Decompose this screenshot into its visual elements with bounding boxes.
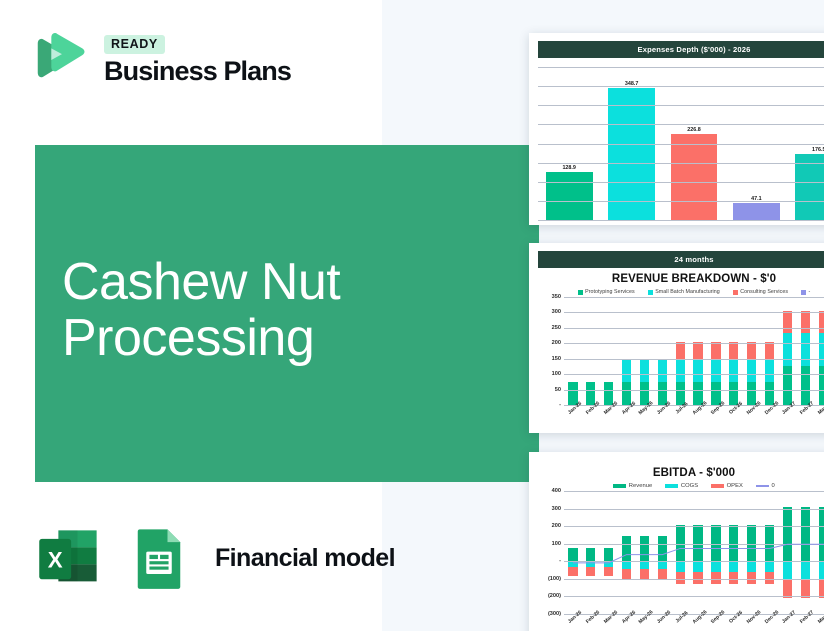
- file-format-row: X Financial model: [35, 524, 395, 592]
- chart-card-revenue[interactable]: 24 months REVENUE BREAKDOWN - $'0 Protot…: [529, 243, 824, 433]
- play-triangles-logo-icon: [30, 28, 92, 90]
- revenue-bar-segment: [801, 333, 810, 365]
- legend-swatch: [665, 484, 678, 488]
- gridline: [538, 67, 824, 68]
- legend-swatch: [613, 484, 626, 488]
- x-tick: Aug-26: [689, 614, 707, 631]
- chart-card-expenses[interactable]: Expenses Depth ($'000) - 2026 128.9348.7…: [529, 33, 824, 225]
- gridline: [564, 374, 824, 375]
- revenue-grid: [564, 297, 824, 405]
- y-tick-label: 150: [552, 356, 561, 362]
- x-tick: Nov-26: [743, 614, 761, 631]
- revenue-bar-segment: [765, 360, 774, 382]
- ebitda-x-axis: Jan-26Feb-26Mar-26Apr-26May-26Jun-26Jul-…: [564, 614, 824, 631]
- revenue-bar-segment: [747, 360, 756, 382]
- x-tick: Apr-26: [618, 614, 636, 631]
- y-tick-label: 50: [555, 387, 561, 393]
- y-tick-label: 100: [552, 371, 561, 377]
- x-tick: Mar-26: [600, 405, 618, 429]
- legend-swatch: [801, 290, 806, 295]
- x-tick: Oct-26: [725, 614, 743, 631]
- legend-swatch: [711, 484, 724, 488]
- x-tick: Jun-26: [653, 614, 671, 631]
- revenue-bar-segment: [711, 342, 720, 361]
- revenue-y-axis: 35030025020015010050-: [538, 297, 564, 405]
- expenses-bar: [671, 134, 718, 221]
- ebitda-trend-line: [564, 491, 824, 614]
- revenue-bar-segment: [747, 342, 756, 361]
- expenses-bar: [795, 154, 824, 222]
- revenue-bar-segment: [819, 333, 824, 365]
- y-tick-label: 250: [552, 325, 561, 331]
- revenue-bar-segment: [801, 366, 810, 405]
- revenue-chart-header: 24 months: [538, 251, 824, 268]
- page-title: Cashew Nut Processing: [62, 255, 502, 366]
- x-tick: Feb-26: [582, 405, 600, 429]
- financial-model-label: Financial model: [215, 544, 395, 573]
- revenue-x-axis: Jan-26Feb-26Mar-26Apr-26May-26Jun-26Jul-…: [564, 405, 824, 429]
- y-tick-label: 300: [552, 309, 561, 315]
- revenue-bar-segment: [622, 360, 631, 382]
- ebitda-plot-area: 400300200100-(100)(200)(300): [538, 491, 824, 614]
- gridline: [564, 390, 824, 391]
- y-tick-label: (300): [548, 611, 561, 617]
- revenue-bar-segment: [729, 360, 738, 382]
- legend-label: OPEX: [727, 483, 743, 489]
- x-tick: Aug-26: [689, 405, 707, 429]
- brand-name: Business Plans: [104, 57, 291, 85]
- revenue-bar-segment: [693, 360, 702, 382]
- expenses-bar: [733, 203, 780, 221]
- expenses-bar-group: 176.5: [795, 68, 824, 221]
- x-tick: Jul-26: [671, 614, 689, 631]
- legend-item: Prototyping Services: [578, 289, 635, 295]
- x-tick: May-26: [636, 614, 654, 631]
- ebitda-y-axis: 400300200100-(100)(200)(300): [538, 491, 564, 614]
- expenses-bar-group: 226.8: [671, 68, 718, 221]
- expenses-bar-value: 176.5: [812, 147, 824, 153]
- gridline: [538, 201, 824, 202]
- expenses-bar-group: 47.1: [733, 68, 780, 221]
- ebitda-chart-title: EBITDA - $'000: [538, 467, 824, 479]
- revenue-bar-segment: [622, 382, 631, 405]
- svg-text:X: X: [48, 548, 63, 573]
- x-tick: May-26: [636, 405, 654, 429]
- ready-badge: READY: [104, 35, 165, 54]
- revenue-bar-segment: [658, 360, 667, 382]
- expenses-bar: [546, 172, 593, 221]
- expenses-bar-group: 128.9: [546, 68, 593, 221]
- gridline: [564, 343, 824, 344]
- y-tick-label: (100): [548, 576, 561, 582]
- legend-swatch: [578, 290, 583, 295]
- revenue-bar-segment: [783, 333, 792, 365]
- chart-card-ebitda[interactable]: EBITDA - $'000 RevenueCOGSOPEX0 40030020…: [529, 452, 824, 631]
- ebitda-grid: [564, 491, 824, 614]
- gridline: [564, 328, 824, 329]
- revenue-bar-segment: [676, 360, 685, 382]
- gridline: [538, 182, 824, 183]
- x-tick: Mar-27: [814, 614, 824, 631]
- y-tick-label: 200: [552, 523, 561, 529]
- expenses-bar-group: 348.7: [608, 68, 655, 221]
- legend-label: -: [809, 289, 811, 295]
- gridline: [564, 297, 824, 298]
- expenses-plot-area: 128.9348.7226.847.1176.5: [538, 58, 824, 221]
- x-tick: Sep-26: [707, 614, 725, 631]
- x-tick: Jun-26: [653, 405, 671, 429]
- y-tick-label: (200): [548, 593, 561, 599]
- x-tick: Dec-26: [761, 614, 779, 631]
- x-tick: Nov-26: [743, 405, 761, 429]
- legend-item: 0: [756, 483, 775, 489]
- expenses-chart-header: Expenses Depth ($'000) - 2026: [538, 41, 824, 58]
- revenue-bar-segment: [711, 360, 720, 382]
- revenue-bar-segment: [801, 311, 810, 334]
- revenue-plot-area: 35030025020015010050-: [538, 297, 824, 405]
- legend-item: Small Batch Manufacturing: [648, 289, 720, 295]
- y-tick-label: 300: [552, 506, 561, 512]
- gridline: [538, 124, 824, 125]
- gridline: [538, 144, 824, 145]
- x-tick: Dec-26: [761, 405, 779, 429]
- y-tick-label: 350: [552, 294, 561, 300]
- revenue-bar-segment: [676, 342, 685, 361]
- legend-label: Consulting Services: [740, 289, 788, 295]
- x-tick: Jan-27: [779, 614, 797, 631]
- y-tick-label: -: [559, 402, 561, 408]
- x-tick: Feb-27: [796, 614, 814, 631]
- revenue-legend: Prototyping ServicesSmall Batch Manufact…: [538, 289, 824, 295]
- gridline: [564, 359, 824, 360]
- x-tick: Feb-27: [796, 405, 814, 429]
- legend-label: 0: [771, 483, 774, 489]
- x-tick: Sep-26: [707, 405, 725, 429]
- y-tick-label: 100: [552, 541, 561, 547]
- revenue-bar-segment: [765, 382, 774, 405]
- brand-logo-block: READY Business Plans: [30, 28, 291, 90]
- gridline: [538, 86, 824, 87]
- revenue-bar-segment: [640, 360, 649, 382]
- expenses-bar-value: 226.8: [687, 127, 701, 133]
- revenue-bar-segment: [819, 366, 824, 405]
- gridline: [538, 105, 824, 106]
- gridline: [538, 163, 824, 164]
- x-tick: Mar-27: [814, 405, 824, 429]
- revenue-bar-segment: [783, 366, 792, 405]
- legend-item: OPEX: [711, 483, 743, 489]
- x-tick: Apr-26: [618, 405, 636, 429]
- y-tick-label: 400: [552, 488, 561, 494]
- legend-label: Small Batch Manufacturing: [655, 289, 720, 295]
- legend-label: Prototyping Services: [585, 289, 635, 295]
- x-tick: Jan-27: [779, 405, 797, 429]
- revenue-bar-segment: [783, 311, 792, 334]
- legend-item: COGS: [665, 483, 698, 489]
- x-tick: Jan-26: [564, 405, 582, 429]
- legend-label: Revenue: [629, 483, 653, 489]
- x-tick: Mar-26: [600, 614, 618, 631]
- ebitda-legend: RevenueCOGSOPEX0: [538, 483, 824, 489]
- revenue-bar-segment: [765, 342, 774, 361]
- microsoft-excel-icon: X: [35, 524, 103, 592]
- legend-item: Revenue: [613, 483, 652, 489]
- y-tick-label: -: [559, 558, 561, 564]
- legend-item: Consulting Services: [733, 289, 788, 295]
- expenses-bar-value: 128.9: [562, 165, 576, 171]
- legend-swatch: [756, 485, 769, 487]
- x-tick: Oct-26: [725, 405, 743, 429]
- expenses-grid: 128.9348.7226.847.1176.5: [538, 68, 824, 221]
- gridline: [564, 312, 824, 313]
- legend-swatch: [648, 290, 653, 295]
- revenue-bar-segment: [729, 342, 738, 361]
- google-sheets-icon: [125, 524, 193, 592]
- legend-item: -: [801, 289, 810, 295]
- expenses-bars: 128.9348.7226.847.1176.5: [538, 68, 824, 221]
- y-tick-label: 200: [552, 340, 561, 346]
- revenue-chart-title: REVENUE BREAKDOWN - $'0: [538, 273, 824, 285]
- x-tick: Feb-26: [582, 614, 600, 631]
- revenue-bar-segment: [693, 342, 702, 361]
- revenue-bar-segment: [819, 311, 824, 334]
- legend-label: COGS: [681, 483, 698, 489]
- x-tick: Jan-26: [564, 614, 582, 631]
- x-tick: Jul-26: [671, 405, 689, 429]
- gridline: [538, 220, 824, 221]
- legend-swatch: [733, 290, 738, 295]
